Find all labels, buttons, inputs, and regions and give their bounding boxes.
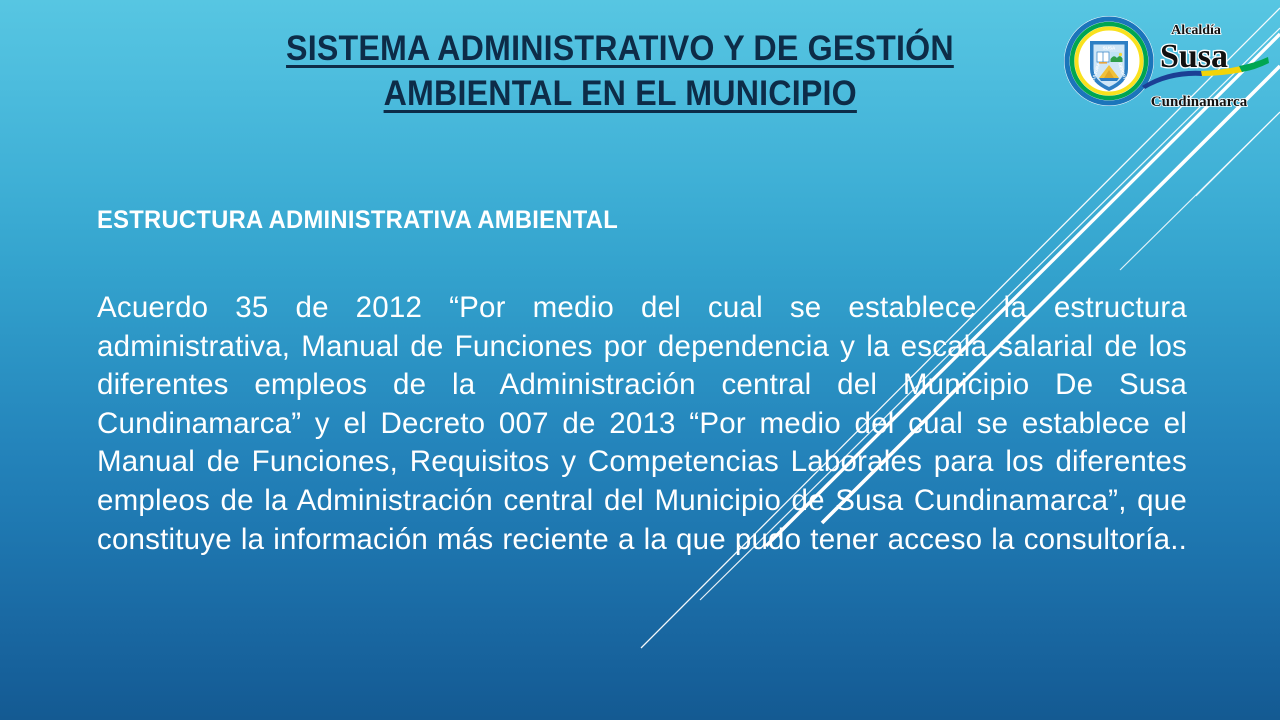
- alcaldia-susa-logo: SUSA CULTURA DEPORTE A: [1063, 11, 1278, 116]
- logo-cundinamarca-text: Cundinamarca: [1151, 94, 1248, 110]
- shield-motto-top: SUSA: [1103, 46, 1116, 51]
- slide-title-line-2: AMBIENTAL EN EL MUNICIPIO: [383, 71, 856, 116]
- ray-line-thin-corner: [1196, 112, 1280, 196]
- shield-book-icon: [1097, 52, 1109, 64]
- slide-title-line-1: SISTEMA ADMINISTRATIVO Y DE GESTIÓN: [286, 26, 954, 71]
- logo-susa-text: Susa: [1160, 38, 1228, 75]
- presentation-slide: SISTEMA ADMINISTRATIVO Y DE GESTIÓN AMBI…: [0, 0, 1280, 720]
- body-subtitle: ESTRUCTURA ADMINISTRATIVA AMBIENTAL: [97, 205, 1133, 235]
- body-paragraph: Acuerdo 35 de 2012 “Por medio del cual s…: [97, 289, 1187, 598]
- slide-body: ESTRUCTURA ADMINISTRATIVA AMBIENTAL Acue…: [97, 205, 1187, 598]
- municipal-seal-icon: SUSA CULTURA DEPORTE: [1064, 16, 1154, 106]
- shield-landscape-icon: [1111, 52, 1123, 62]
- logo-wordmark: Alcaldía Susa Cundinamarca: [1142, 23, 1269, 110]
- logo-alcaldia-text: Alcaldía: [1171, 23, 1221, 38]
- slide-title: SISTEMA ADMINISTRATIVO Y DE GESTIÓN AMBI…: [180, 26, 1060, 116]
